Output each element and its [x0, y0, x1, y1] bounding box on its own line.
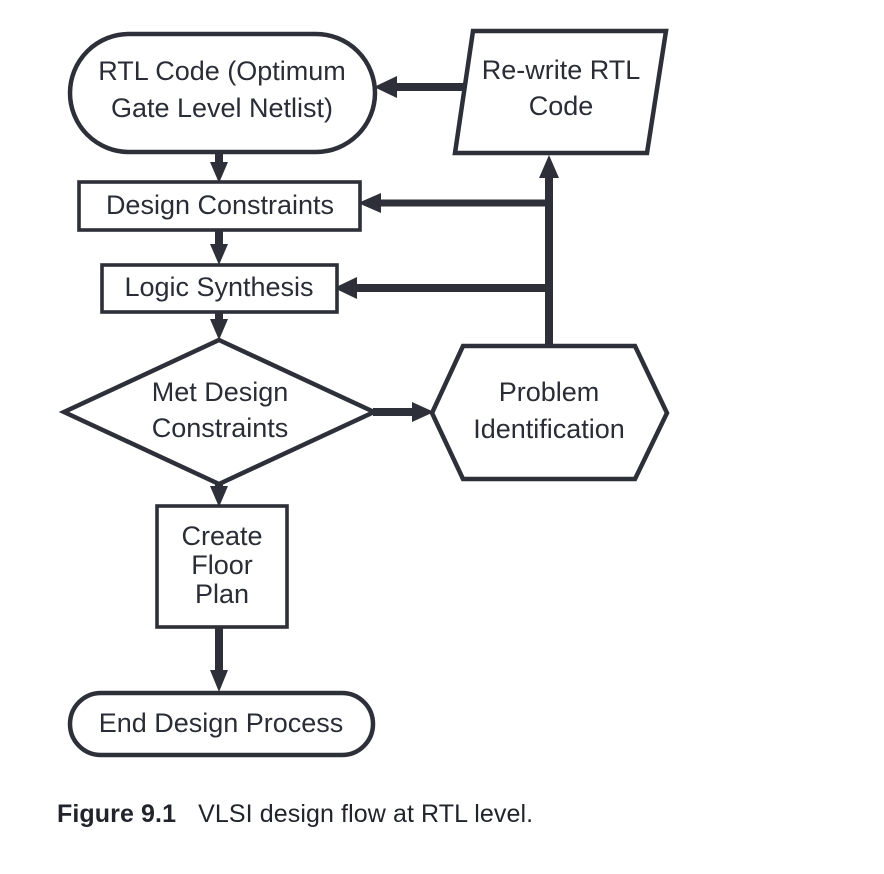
edge-create-floor-plan-to-end [210, 627, 228, 692]
node-problem-identification[interactable]: Problem Identification [432, 346, 667, 479]
node-create-floor-plan-label-line2: Floor [191, 550, 253, 580]
figure-caption: Figure 9.1VLSI design flow at RTL level. [57, 800, 857, 829]
edge-problem-identification-to-design-constraints [358, 193, 549, 213]
edge-logic-synthesis-to-decision [210, 310, 228, 340]
node-rewrite-rtl-code-label-line2: Code [529, 91, 594, 121]
figure-container: RTL Code (Optimum Gate Level Netlist) Re… [0, 0, 884, 874]
node-logic-synthesis[interactable]: Logic Synthesis [102, 265, 337, 312]
edge-rtl-to-design-constraints [210, 150, 228, 183]
node-problem-identification-label-line1: Problem [499, 377, 600, 407]
edge-problem-identification-to-rewrite [539, 155, 559, 346]
node-end-design-process[interactable]: End Design Process [70, 693, 373, 755]
edge-rewrite-to-rtl-code [374, 76, 466, 98]
node-logic-synthesis-label: Logic Synthesis [124, 272, 313, 302]
node-rtl-code-label-line2: Gate Level Netlist) [111, 93, 333, 123]
node-create-floor-plan[interactable]: Create Floor Plan [157, 506, 287, 627]
figure-caption-label: Figure 9.1 [57, 800, 176, 828]
node-problem-identification-label-line2: Identification [473, 414, 625, 444]
edge-problem-identification-to-logic-synthesis [334, 277, 549, 299]
edge-decision-to-problem-identification [373, 402, 434, 422]
node-rtl-code[interactable]: RTL Code (Optimum Gate Level Netlist) [70, 34, 375, 152]
node-design-constraints[interactable]: Design Constraints [79, 182, 360, 230]
node-create-floor-plan-label-line1: Create [181, 521, 262, 551]
node-rewrite-rtl-code[interactable]: Re-write RTL Code [455, 31, 666, 153]
node-design-constraints-label: Design Constraints [106, 190, 334, 220]
node-met-design-constraints[interactable]: Met Design Constraints [64, 340, 374, 484]
node-met-design-constraints-label-line2: Constraints [152, 413, 289, 443]
node-create-floor-plan-label-line3: Plan [195, 579, 249, 609]
node-met-design-constraints-label-line1: Met Design [152, 377, 289, 407]
node-end-design-process-label: End Design Process [99, 708, 344, 738]
node-rtl-code-label-line1: RTL Code (Optimum [98, 56, 346, 86]
figure-caption-text: VLSI design flow at RTL level. [198, 800, 533, 828]
edge-design-constraints-to-logic-synthesis [210, 229, 228, 265]
node-rewrite-rtl-code-label-line1: Re-write RTL [482, 55, 641, 85]
flowchart-canvas: RTL Code (Optimum Gate Level Netlist) Re… [0, 0, 884, 874]
